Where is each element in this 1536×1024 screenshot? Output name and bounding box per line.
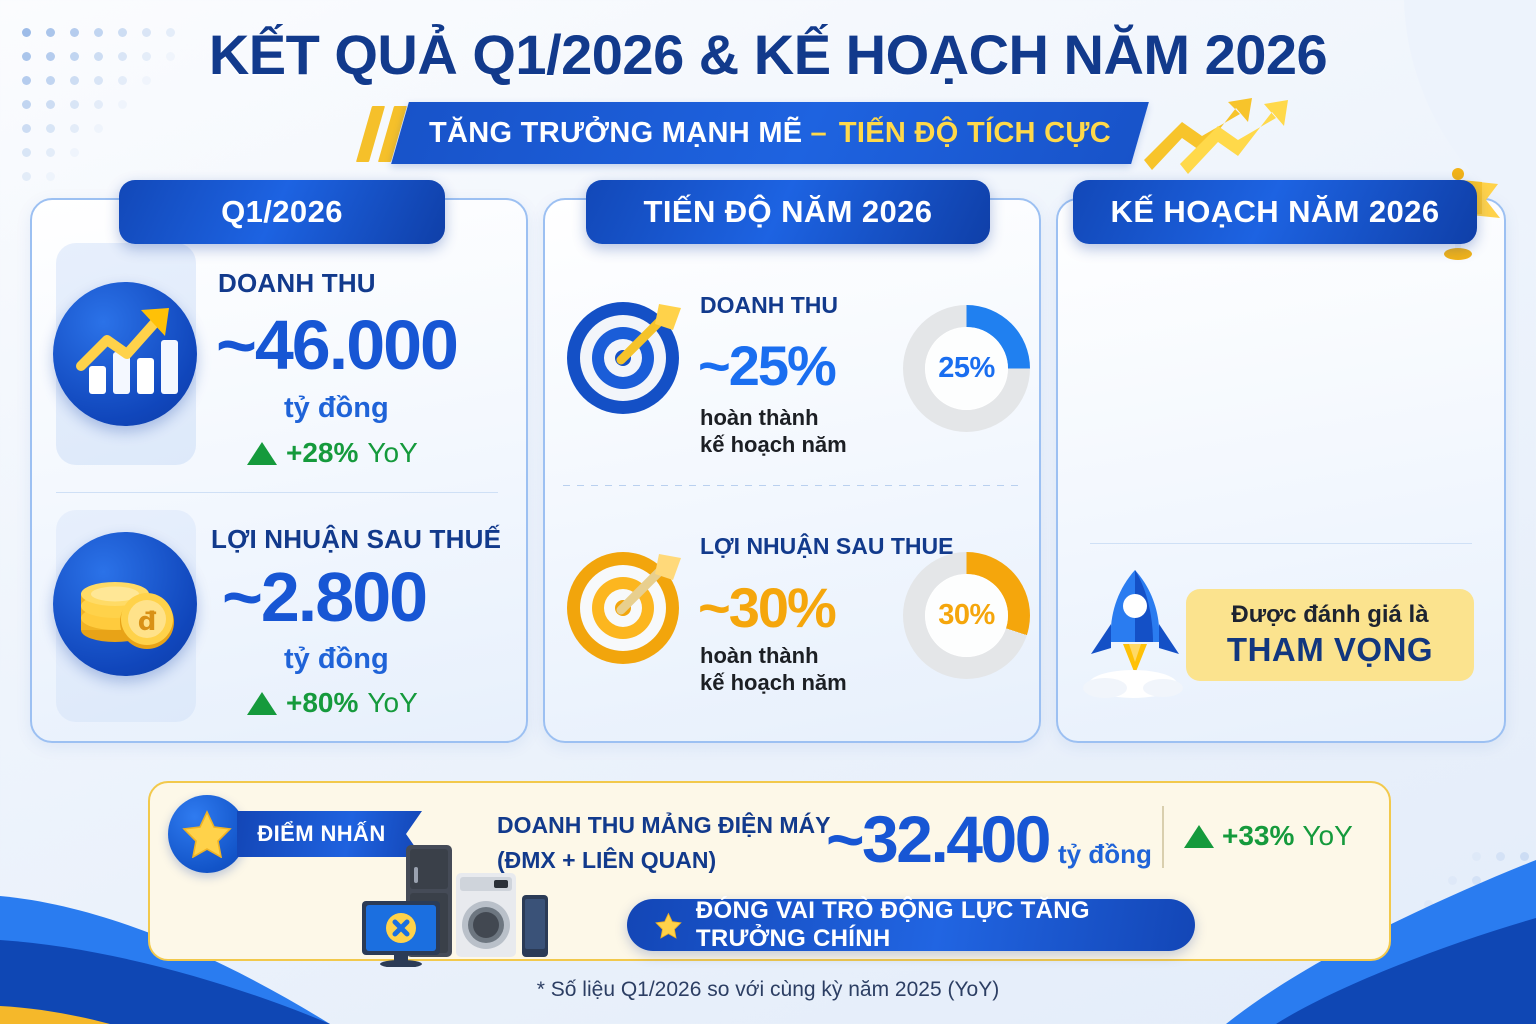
progress-percent-revenue: ~25%: [698, 338, 835, 394]
growth-arrows-icon: [1140, 92, 1288, 180]
highlight-star-circle: [168, 795, 246, 873]
highlight-label-line2: (ĐMX + LIÊN QUAN): [497, 843, 831, 878]
donut-chart-revenue: 25%: [903, 305, 1030, 432]
subtitle-main: TĂNG TRƯỞNG MẠNH MẼ: [429, 117, 802, 150]
growth-driver-label: ĐÓNG VAI TRÒ ĐỘNG LỰC TĂNG TRƯỞNG CHÍNH: [696, 897, 1167, 953]
metric-yoy-value-profit: +80%: [286, 687, 358, 719]
metric-unit-profit: tỷ đồng: [284, 643, 389, 676]
header: KẾT QUẢ Q1/2026 & KẾ HOẠCH NĂM 2026 TĂNG…: [0, 0, 1536, 176]
target-blue-icon: [563, 290, 691, 418]
metric-yoy-profit: +80% YoY: [247, 687, 418, 719]
dot-pattern-bottom-right: [1400, 852, 1530, 982]
progress-sub-line2-profit: kế hoạch năm: [700, 670, 847, 697]
highlight-label-line1: DOANH THU MẢNG ĐIỆN MÁY: [497, 808, 831, 843]
page-title: KẾT QUẢ Q1/2026 & KẾ HOẠCH NĂM 2026: [0, 22, 1536, 87]
card-plan-2026-title-label: KẾ HOẠCH NĂM 2026: [1111, 194, 1440, 230]
subtitle-highlight: TIẾN ĐỘ TÍCH CỰC: [839, 117, 1111, 150]
ambition-line1: Được đánh giá là: [1231, 601, 1428, 629]
highlight-value: ~32.400: [826, 806, 1049, 872]
subtitle-banner-wrap: TĂNG TRƯỞNG MẠNH MẼ – TIẾN ĐỘ TÍCH CỰC: [0, 100, 1536, 170]
card-divider-right: [1090, 543, 1472, 544]
metric-value-revenue: ~46.000: [216, 310, 457, 380]
metric-label-profit: LỢI NHUẬN SAU THUẾ: [211, 524, 501, 555]
highlight-yoy-suffix: YoY: [1302, 820, 1352, 852]
highlight-unit: tỷ đồng: [1058, 839, 1152, 870]
metric-yoy-suffix-profit: YoY: [367, 687, 417, 719]
highlight-yoy: +33% YoY: [1184, 820, 1353, 852]
progress-sub-revenue: hoàn thành kế hoạch năm: [700, 405, 847, 459]
trend-up-icon: [247, 692, 277, 715]
highlight-badge-label: ĐIỂM NHẤN: [257, 821, 385, 847]
svg-text:đ: đ: [138, 607, 157, 637]
footnote: * Số liệu Q1/2026 so với cùng kỳ năm 202…: [0, 978, 1536, 1002]
metric-yoy-suffix-revenue: YoY: [367, 437, 417, 469]
card-plan-2026-title: KẾ HOẠCH NĂM 2026: [1073, 180, 1477, 244]
donut-label-profit: 30%: [925, 574, 1008, 657]
progress-label-revenue: DOANH THU: [700, 292, 838, 319]
progress-sub-line1-profit: hoàn thành: [700, 643, 847, 670]
ambition-line2: THAM VỌNG: [1227, 631, 1433, 669]
plan-label: LỢI NHUẬN SAU THUẾ: [1056, 293, 1536, 326]
card-divider-middle: [563, 485, 1025, 486]
growth-chart-icon: [53, 282, 197, 426]
growth-driver-pill: ĐÓNG VAI TRÒ ĐỘNG LỰC TĂNG TRƯỞNG CHÍNH: [627, 899, 1195, 951]
donut-label-revenue: 25%: [925, 327, 1008, 410]
highlight-label: DOANH THU MẢNG ĐIỆN MÁY (ĐMX + LIÊN QUAN…: [497, 808, 831, 877]
subtitle-dash: –: [810, 117, 826, 150]
rocket-icon: [1075, 562, 1195, 698]
plan-unit: tỷ đồng: [1056, 473, 1536, 511]
metric-yoy-value-revenue: +28%: [286, 437, 358, 469]
metric-value-profit: ~2.800: [222, 562, 426, 632]
star-icon: [655, 909, 682, 942]
donut-chart-profit: 30%: [903, 552, 1030, 679]
card-q1-2026-title: Q1/2026: [119, 180, 445, 244]
trend-up-icon: [247, 442, 277, 465]
card-divider-left: [56, 492, 498, 493]
progress-label-profit: LỢI NHUẬN SAU THUE: [700, 533, 953, 560]
metric-unit-revenue: tỷ đồng: [284, 392, 389, 425]
highlight-separator: [1162, 806, 1164, 868]
trend-up-icon: [1184, 825, 1214, 848]
metric-label-revenue: DOANH THU: [218, 268, 376, 299]
ambition-badge: Được đánh giá là THAM VỌNG: [1186, 589, 1474, 681]
metric-yoy-revenue: +28% YoY: [247, 437, 418, 469]
card-progress-2026-title-label: TIẾN ĐỘ NĂM 2026: [644, 194, 933, 230]
progress-percent-profit: ~30%: [698, 580, 835, 636]
subtitle-text: TĂNG TRƯỞNG MẠNH MẼ – TIẾN ĐỘ TÍCH CỰC: [400, 102, 1140, 164]
target-gold-icon: [563, 540, 691, 668]
progress-sub-line2-revenue: kế hoạch năm: [700, 432, 847, 459]
progress-sub-profit: hoàn thành kế hoạch năm: [700, 643, 847, 697]
card-progress-2026-title: TIẾN ĐỘ NĂM 2026: [586, 180, 990, 244]
card-q1-2026-title-label: Q1/2026: [221, 194, 343, 230]
star-icon: [182, 810, 232, 858]
plan-value: ~9.200: [1056, 345, 1536, 441]
highlight-yoy-value: +33%: [1222, 820, 1294, 852]
progress-sub-line1-revenue: hoàn thành: [700, 405, 847, 432]
coins-icon: đ: [53, 532, 197, 676]
